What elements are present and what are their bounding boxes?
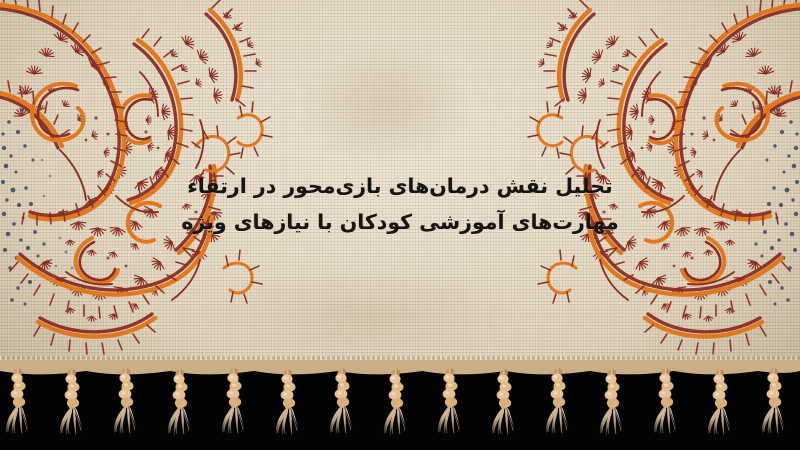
title-card-canvas: تحلیل نقش درمان‌های بازی‌محور در ارتقاء … <box>0 0 800 450</box>
right-paisley-ornament <box>500 0 800 372</box>
tassel-fringe <box>0 360 800 450</box>
left-paisley-ornament <box>0 0 300 372</box>
